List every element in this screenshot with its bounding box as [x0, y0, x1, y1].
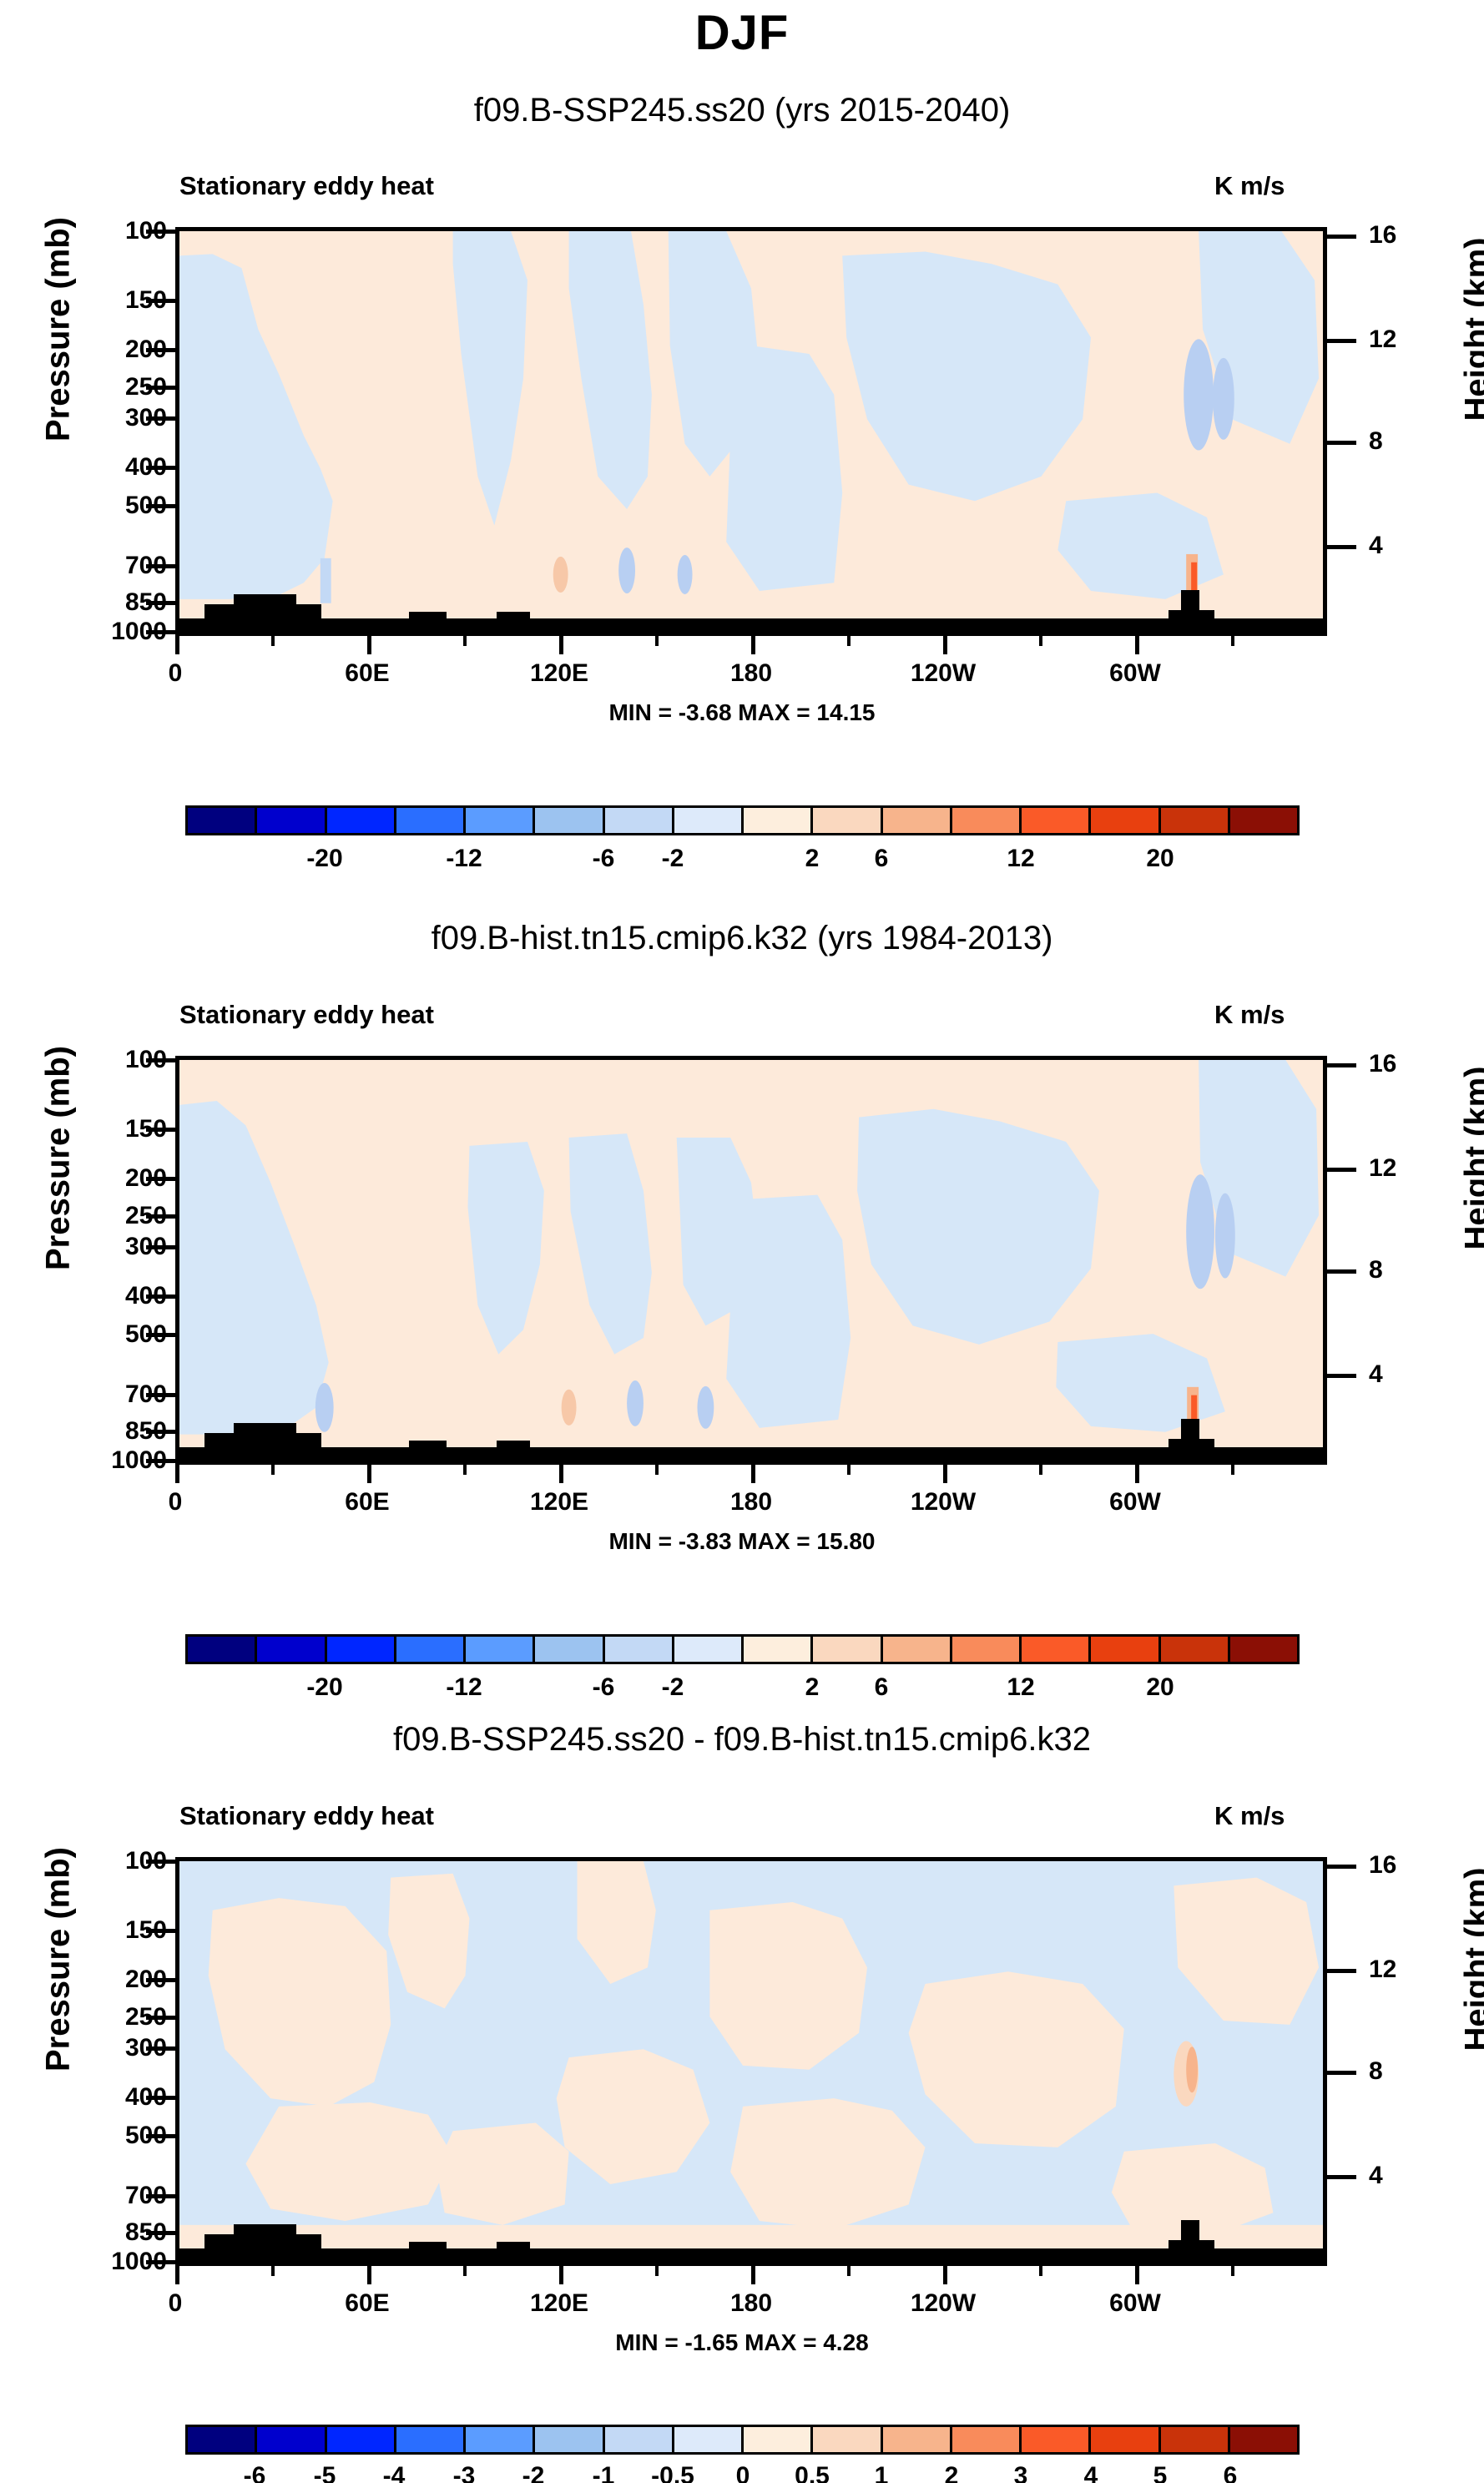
panel-2-minmax-text: MIN = -3.83 MAX = 15.80: [0, 1528, 1484, 1555]
panel-1-variable-label: Stationary eddy heat: [179, 171, 434, 201]
panel-3-rtick-mark: [1327, 1969, 1356, 1973]
colorbar-cell: [883, 1637, 952, 1662]
colorbar-cell: [466, 2427, 535, 2452]
panel-1-minmax-text: MIN = -3.68 MAX = 14.15: [0, 699, 1484, 726]
colorbar-cell: [1091, 808, 1160, 833]
panel-1-height-axis-label: Height (km): [1459, 196, 1484, 463]
panel-1-topography-peak: [497, 612, 530, 632]
panel-2-rtick-4: 4: [1369, 1360, 1383, 1389]
panel-1-xtick-mark: [559, 636, 563, 654]
cbar-label: 12: [1007, 1673, 1034, 1702]
panel-2-xtick-120E: 120E: [509, 1488, 609, 1517]
panel-1-title: f09.B-SSP245.ss20 (yrs 2015-2040): [0, 92, 1484, 129]
panel-3-ytick-mark: [146, 2016, 175, 2020]
colorbar-cell: [674, 808, 744, 833]
panel-3-ytick-mark: [146, 1929, 175, 1933]
panel-2-rtick-16: 16: [1369, 1050, 1396, 1078]
panel-3-rtick-8: 8: [1369, 2057, 1383, 2086]
panel-2-colorbar: [185, 1634, 1300, 1664]
panel-1-ytick-mark: [146, 466, 175, 470]
cbar-label: 2: [805, 845, 820, 873]
panel-1-rtick-4: 4: [1369, 532, 1383, 560]
colorbar-cell: [327, 808, 396, 833]
colorbar-cell: [813, 1637, 882, 1662]
colorbar-cell: [396, 2427, 466, 2452]
colorbar-cell: [1022, 2427, 1091, 2452]
cbar-label: 5: [1153, 2462, 1168, 2483]
panel-1-ytick-mark: [146, 601, 175, 605]
cbar-label: 20: [1146, 1673, 1174, 1702]
panel-2-title: f09.B-hist.tn15.cmip6.k32 (yrs 1984-2013…: [0, 920, 1484, 957]
panel-2-rtick-mark: [1327, 1374, 1356, 1378]
panel-3-topography-peak: [409, 2242, 447, 2262]
panel-3-topography-peak: [497, 2242, 530, 2262]
panel-3-xtick-0: 0: [125, 2289, 225, 2318]
panel-1-xtick-mark: [943, 636, 947, 654]
panel-2-xtick-mark-minor: [463, 1465, 467, 1475]
panel-1-rtick-mark: [1327, 235, 1356, 239]
panel-2-xtick-0: 0: [125, 1488, 225, 1517]
colorbar-cell: [396, 808, 466, 833]
panel-3-contour-field: [179, 1861, 1323, 2262]
panel-3-xtick-180: 180: [701, 2289, 801, 2318]
colorbar-cell: [1230, 1637, 1297, 1662]
panel-1-xtick-mark-minor: [1231, 636, 1234, 646]
figure-main-title: DJF: [0, 5, 1484, 61]
panel-1-rtick-mark: [1327, 545, 1356, 549]
colorbar-cell: [1161, 1637, 1230, 1662]
panel-1-contour-field: [179, 231, 1323, 632]
panel-1-ytick-mark: [146, 230, 175, 234]
panel-1-ytick-mark: [146, 504, 175, 508]
colorbar-cell: [1230, 808, 1297, 833]
panel-2-xtick-mark: [367, 1465, 371, 1483]
colorbar-cell: [327, 1637, 396, 1662]
panel-2-ytick-mark: [146, 1214, 175, 1219]
panel-2-xtick-mark: [751, 1465, 755, 1483]
panel-3-xtick-mark-minor: [1231, 2266, 1234, 2276]
colorbar-cell: [1022, 808, 1091, 833]
panel-2-topography-peak: [1181, 1419, 1199, 1461]
colorbar-cell: [1161, 808, 1230, 833]
panel-2-rtick-mark: [1327, 1063, 1356, 1067]
panel-1-rtick-12: 12: [1369, 326, 1396, 354]
colorbar-cell: [605, 2427, 674, 2452]
cbar-label: -0.5: [651, 2462, 694, 2483]
panel-2-rtick-12: 12: [1369, 1154, 1396, 1183]
panel-2-xtick-180: 180: [701, 1488, 801, 1517]
panel-3-xtick-mark-minor: [271, 2266, 275, 2276]
panel-2-xtick-mark: [1135, 1465, 1139, 1483]
panel-3-title: f09.B-SSP245.ss20 - f09.B-hist.tn15.cmip…: [0, 1721, 1484, 1759]
colorbar-cell: [813, 808, 882, 833]
panel-2-units-label: K m/s: [1214, 1000, 1285, 1030]
cbar-label: 0: [736, 2462, 750, 2483]
colorbar-cell: [952, 808, 1022, 833]
panel-2-colorbar-labels: -20 -12 -6 -2 2 6 12 20: [185, 1673, 1300, 1707]
panel-1-colorbar: [185, 805, 1300, 835]
panel-1-units-label: K m/s: [1214, 171, 1285, 201]
panel-1-xtick-180: 180: [701, 659, 801, 688]
colorbar-cell: [744, 1637, 813, 1662]
panel-1-xtick-mark: [1135, 636, 1139, 654]
panel-1-xtick-mark: [367, 636, 371, 654]
panel-2-topography-peak: [234, 1423, 296, 1461]
cbar-label: -6: [593, 845, 615, 873]
panel-3-xtick-120W: 120W: [893, 2289, 993, 2318]
panel-2-variable-label: Stationary eddy heat: [179, 1000, 434, 1030]
panel-1-xtick-mark-minor: [1039, 636, 1042, 646]
panel-2-xtick-mark-minor: [1039, 1465, 1042, 1475]
panel-1-xtick-mark-minor: [271, 636, 275, 646]
colorbar-cell: [1161, 2427, 1230, 2452]
colorbar-cell: [674, 2427, 744, 2452]
colorbar-cell: [188, 808, 257, 833]
panel-3-rtick-mark: [1327, 1865, 1356, 1869]
colorbar-cell: [257, 808, 326, 833]
panel-1-xtick-mark-minor: [847, 636, 851, 646]
panel-1-xtick-mark: [751, 636, 755, 654]
panel-2-xtick-mark: [175, 1465, 179, 1483]
panel-1-ytick-mark: [146, 564, 175, 568]
cbar-label: -12: [446, 1673, 482, 1702]
panel-3-xtick-mark: [1135, 2266, 1139, 2284]
cbar-label: 6: [875, 1673, 889, 1702]
panel-3-rtick-4: 4: [1369, 2162, 1383, 2190]
panel-3-height-axis-label: Height (km): [1459, 1826, 1484, 2093]
cbar-label: 6: [875, 845, 889, 873]
panel-3-ytick-1000: 1000: [17, 2248, 167, 2276]
panel-1-xtick-60W: 60W: [1085, 659, 1185, 688]
panel-2-rtick-mark: [1327, 1168, 1356, 1172]
colorbar-cell: [188, 2427, 257, 2452]
panel-2-ytick-mark: [146, 1333, 175, 1337]
panel-3-rtick-mark: [1327, 2175, 1356, 2179]
panel-2-ytick-mark: [146, 1430, 175, 1434]
panel-1-rtick-8: 8: [1369, 427, 1383, 456]
panel-1-topography: [179, 618, 1327, 632]
panel-2-ytick-mark: [146, 1128, 175, 1132]
colorbar-cell: [466, 1637, 535, 1662]
panel-1-ytick-1000: 1000: [17, 618, 167, 646]
panel-3-xtick-mark-minor: [847, 2266, 851, 2276]
panel-1-ytick-mark: [146, 299, 175, 303]
panel-1-rtick-mark: [1327, 339, 1356, 343]
panel-2-topography-peak: [497, 1441, 530, 1461]
panel-2-ytick-mark: [146, 1177, 175, 1181]
cbar-label: 4: [1084, 2462, 1098, 2483]
colorbar-cell: [674, 1637, 744, 1662]
panel-3-topography: [179, 2248, 1327, 2262]
panel-3-topography-peak: [1181, 2220, 1199, 2262]
panel-3-xtick-mark: [559, 2266, 563, 2284]
panel-3-plot-area: [175, 1857, 1327, 2266]
colorbar-cell: [1091, 2427, 1160, 2452]
panel-3-colorbar: [185, 2425, 1300, 2455]
panel-3-topography-peak: [234, 2224, 296, 2262]
panel-3-xtick-mark-minor: [655, 2266, 659, 2276]
cbar-label: -20: [306, 845, 342, 873]
panel-1-rtick-16: 16: [1369, 221, 1396, 250]
cbar-label: 20: [1146, 845, 1174, 873]
colorbar-cell: [257, 2427, 326, 2452]
panel-2-topography-peak: [409, 1441, 447, 1461]
cbar-label: 0.5: [795, 2462, 830, 2483]
colorbar-cell: [605, 808, 674, 833]
panel-1-topography-peak: [234, 594, 296, 632]
figure-root: DJF f09.B-SSP245.ss20 (yrs 2015-2040) St…: [0, 0, 1484, 2483]
colorbar-cell: [883, 808, 952, 833]
colorbar-cell: [327, 2427, 396, 2452]
panel-3-ytick-mark: [146, 2231, 175, 2235]
panel-2-ytick-mark: [146, 1294, 175, 1299]
colorbar-cell: [466, 808, 535, 833]
panel-1-rtick-mark: [1327, 441, 1356, 445]
colorbar-cell: [188, 1637, 257, 1662]
cbar-label: 3: [1014, 2462, 1028, 2483]
panel-1-topography-peak: [409, 612, 447, 632]
cbar-label: -6: [593, 1673, 615, 1702]
panel-3-xtick-60W: 60W: [1085, 2289, 1185, 2318]
panel-2-rtick-8: 8: [1369, 1256, 1383, 1284]
colorbar-cell: [744, 2427, 813, 2452]
panel-2-rtick-mark: [1327, 1269, 1356, 1274]
panel-2-ytick-mark: [146, 1393, 175, 1397]
panel-3-minmax-text: MIN = -1.65 MAX = 4.28: [0, 2329, 1484, 2356]
colorbar-cell: [605, 1637, 674, 1662]
colorbar-cell: [744, 808, 813, 833]
panel-3-ytick-mark: [146, 2046, 175, 2051]
panel-1-xtick-mark-minor: [463, 636, 467, 646]
panel-2-xtick-mark: [559, 1465, 563, 1483]
panel-2-xtick-mark-minor: [655, 1465, 659, 1475]
cbar-label: -5: [314, 2462, 336, 2483]
colorbar-cell: [535, 1637, 604, 1662]
colorbar-cell: [813, 2427, 882, 2452]
panel-3-ytick-mark: [146, 1860, 175, 1864]
panel-2-xtick-60E: 60E: [317, 1488, 417, 1517]
cbar-label: -2: [662, 845, 684, 873]
panel-3-xtick-mark-minor: [1039, 2266, 1042, 2276]
panel-3-ytick-mark: [146, 2260, 175, 2264]
panel-1-xtick-mark-minor: [655, 636, 659, 646]
panel-1-colorbar-labels: -20 -12 -6 -2 2 6 12 20: [185, 845, 1300, 878]
panel-3-rtick-16: 16: [1369, 1851, 1396, 1880]
panel-3-xtick-60E: 60E: [317, 2289, 417, 2318]
panel-2-plot-area: [175, 1056, 1327, 1465]
colorbar-cell: [257, 1637, 326, 1662]
colorbar-cell: [952, 2427, 1022, 2452]
cbar-label: 12: [1007, 845, 1034, 873]
panel-3-xtick-mark: [175, 2266, 179, 2284]
cbar-label: 2: [945, 2462, 959, 2483]
colorbar-cell: [535, 2427, 604, 2452]
panel-1-plot-area: [175, 227, 1327, 636]
panel-1-ytick-mark: [146, 416, 175, 421]
panel-1-xtick-mark: [175, 636, 179, 654]
panel-1-ytick-mark: [146, 386, 175, 390]
panel-1-ytick-mark: [146, 630, 175, 634]
colorbar-cell: [396, 1637, 466, 1662]
cbar-label: 1: [875, 2462, 889, 2483]
panel-1-topography-peak: [1181, 590, 1199, 632]
panel-1-xtick-0: 0: [125, 659, 225, 688]
cbar-label: -4: [383, 2462, 406, 2483]
panel-3-variable-label: Stationary eddy heat: [179, 1801, 434, 1831]
panel-2-ytick-1000: 1000: [17, 1446, 167, 1475]
panel-2-ytick-mark: [146, 1245, 175, 1249]
panel-3-xtick-mark: [751, 2266, 755, 2284]
panel-3-rtick-12: 12: [1369, 1956, 1396, 1984]
cbar-label: -6: [244, 2462, 266, 2483]
colorbar-cell: [1230, 2427, 1297, 2452]
cbar-label: -2: [522, 2462, 545, 2483]
panel-2-contour-field: [179, 1060, 1323, 1461]
panel-3-ytick-mark: [146, 2134, 175, 2138]
panel-1-xtick-120W: 120W: [893, 659, 993, 688]
colorbar-cell: [952, 1637, 1022, 1662]
colorbar-cell: [535, 808, 604, 833]
panel-2-xtick-mark: [943, 1465, 947, 1483]
colorbar-cell: [883, 2427, 952, 2452]
panel-1-xtick-60E: 60E: [317, 659, 417, 688]
panel-3-colorbar-labels: -6 -5 -4 -3 -2 -1 -0.5 0 0.5 1 2 3 4 5 6: [185, 2462, 1300, 2483]
cbar-label: -3: [453, 2462, 476, 2483]
panel-3-xtick-120E: 120E: [509, 2289, 609, 2318]
panel-2-xtick-mark-minor: [271, 1465, 275, 1475]
panel-3-xtick-mark: [943, 2266, 947, 2284]
cbar-label: -12: [446, 845, 482, 873]
panel-3-ytick-mark: [146, 2096, 175, 2100]
panel-2-ytick-mark: [146, 1058, 175, 1062]
panel-2-ytick-mark: [146, 1459, 175, 1463]
panel-2-xtick-mark-minor: [1231, 1465, 1234, 1475]
cbar-label: -20: [306, 1673, 342, 1702]
cbar-label: 6: [1224, 2462, 1238, 2483]
panel-2-height-axis-label: Height (km): [1459, 1025, 1484, 1292]
colorbar-cell: [1091, 1637, 1160, 1662]
cbar-label: -2: [662, 1673, 684, 1702]
cbar-label: -1: [593, 2462, 615, 2483]
panel-2-topography: [179, 1447, 1327, 1461]
panel-3-rtick-mark: [1327, 2071, 1356, 2075]
panel-2-xtick-mark-minor: [847, 1465, 851, 1475]
panel-3-ytick-mark: [146, 1978, 175, 1982]
panel-1-xtick-120E: 120E: [509, 659, 609, 688]
colorbar-cell: [1022, 1637, 1091, 1662]
panel-3-ytick-mark: [146, 2194, 175, 2198]
panel-3-xtick-mark: [367, 2266, 371, 2284]
panel-1-ytick-mark: [146, 348, 175, 352]
cbar-label: 2: [805, 1673, 820, 1702]
panel-3-units-label: K m/s: [1214, 1801, 1285, 1831]
panel-3-xtick-mark-minor: [463, 2266, 467, 2276]
panel-2-xtick-120W: 120W: [893, 1488, 993, 1517]
panel-2-xtick-60W: 60W: [1085, 1488, 1185, 1517]
